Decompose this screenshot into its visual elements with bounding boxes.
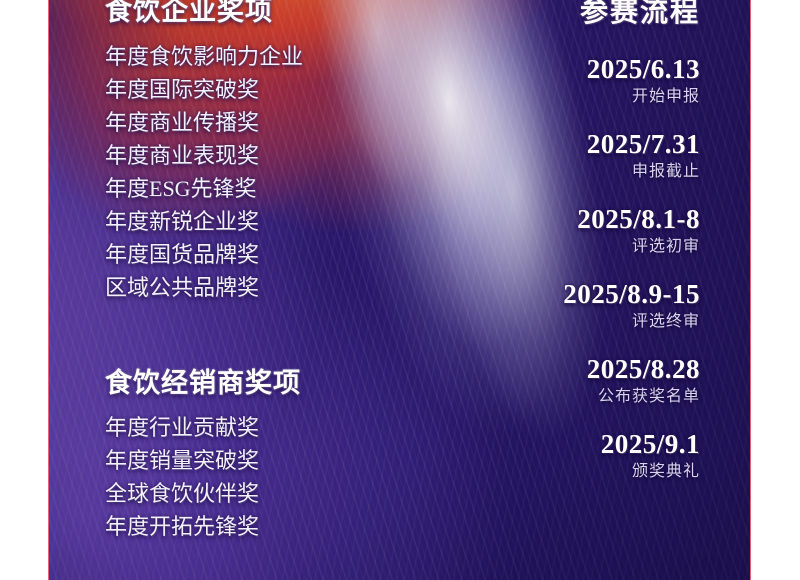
timeline-label: 颁奖典礼	[400, 460, 700, 483]
timeline-label: 开始申报	[400, 85, 700, 108]
list-item: 年度ESG先锋奖	[105, 172, 405, 205]
timeline-entry: 2025/8.28 公布获奖名单	[400, 353, 700, 408]
list-item: 年度国际突破奖	[105, 73, 405, 106]
timeline-entry: 2025/9.1 颁奖典礼	[400, 428, 700, 483]
timeline-date: 2025/7.31	[400, 128, 700, 160]
list-item: 全球食饮伙伴奖	[105, 477, 405, 510]
right-white-margin	[751, 0, 800, 580]
left-white-margin	[0, 0, 48, 580]
section-title-process: 参赛流程	[400, 0, 700, 27]
list-item: 年度新锐企业奖	[105, 205, 405, 238]
timeline-date: 2025/8.1-8	[400, 203, 700, 235]
poster-page: 食饮企业奖项 年度食饮影响力企业 年度国际突破奖 年度商业传播奖 年度商业表现奖…	[0, 0, 800, 580]
process-column: 参赛流程 2025/6.13 开始申报 2025/7.31 申报截止 2025/…	[400, 0, 700, 483]
list-item: 年度食饮影响力企业	[105, 40, 405, 73]
right-border-rule	[750, 0, 751, 580]
timeline-date: 2025/6.13	[400, 53, 700, 85]
timeline-entry: 2025/6.13 开始申报	[400, 53, 700, 108]
section-spacer	[105, 304, 405, 368]
list-item: 年度商业表现奖	[105, 139, 405, 172]
timeline-label: 申报截止	[400, 160, 700, 183]
list-item: 年度商业传播奖	[105, 106, 405, 139]
timeline-entry: 2025/8.9-15 评选终审	[400, 278, 700, 333]
timeline-label: 评选终审	[400, 310, 700, 333]
enterprise-awards-list: 年度食饮影响力企业 年度国际突破奖 年度商业传播奖 年度商业表现奖 年度ESG先…	[105, 40, 405, 304]
list-item: 区域公共品牌奖	[105, 271, 405, 304]
section-title-dealer-awards: 食饮经销商奖项	[105, 368, 405, 398]
list-item: 年度国货品牌奖	[105, 238, 405, 271]
process-timeline: 2025/6.13 开始申报 2025/7.31 申报截止 2025/8.1-8…	[400, 53, 700, 483]
list-item: 年度开拓先锋奖	[105, 510, 405, 543]
awards-column: 食饮企业奖项 年度食饮影响力企业 年度国际突破奖 年度商业传播奖 年度商业表现奖…	[105, 0, 405, 543]
timeline-date: 2025/8.28	[400, 353, 700, 385]
dealer-awards-list: 年度行业贡献奖 年度销量突破奖 全球食饮伙伴奖 年度开拓先锋奖	[105, 411, 405, 543]
poster-content: 食饮企业奖项 年度食饮影响力企业 年度国际突破奖 年度商业传播奖 年度商业表现奖…	[49, 0, 750, 580]
timeline-date: 2025/9.1	[400, 428, 700, 460]
left-border-rule	[48, 0, 49, 580]
timeline-entry: 2025/8.1-8 评选初审	[400, 203, 700, 258]
section-title-enterprise-awards: 食饮企业奖项	[105, 0, 405, 26]
timeline-label: 评选初审	[400, 235, 700, 258]
timeline-date: 2025/8.9-15	[400, 278, 700, 310]
timeline-entry: 2025/7.31 申报截止	[400, 128, 700, 183]
list-item: 年度行业贡献奖	[105, 411, 405, 444]
list-item: 年度销量突破奖	[105, 444, 405, 477]
timeline-label: 公布获奖名单	[400, 385, 700, 408]
